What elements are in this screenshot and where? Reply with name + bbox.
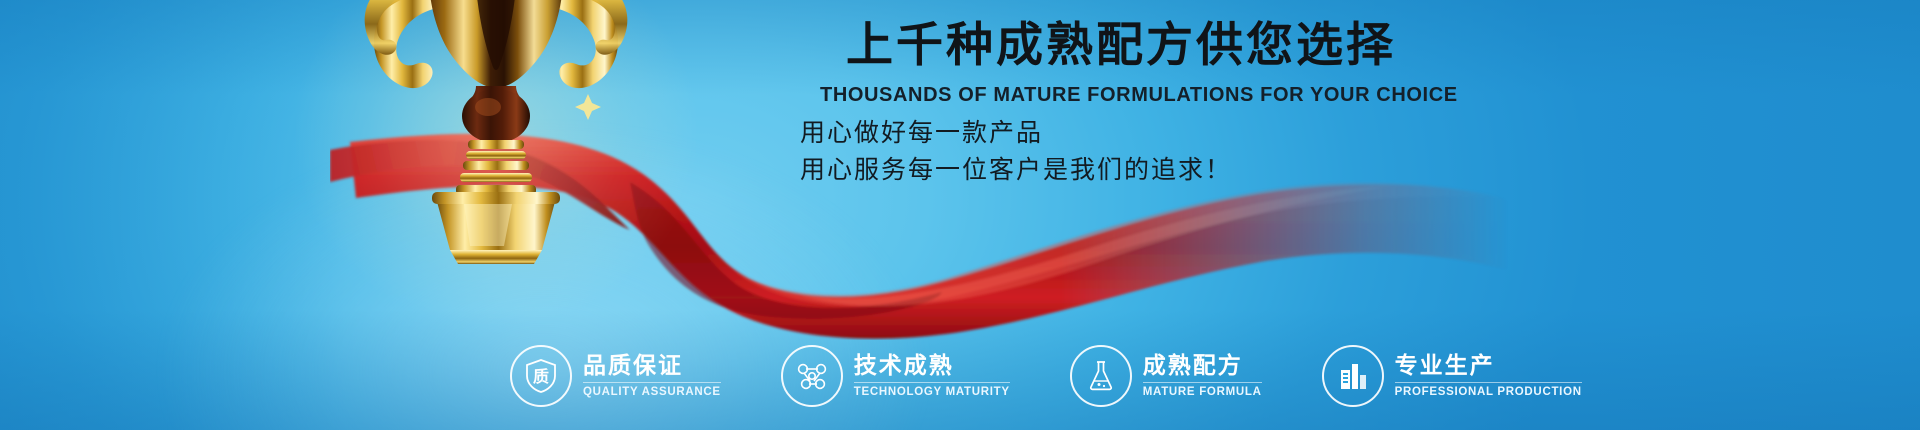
promo-banner: 上千种成熟配方供您选择 THOUSANDS OF MATURE FORMULAT… [0, 0, 1920, 430]
body-line-1: 用心做好每一款产品 [800, 113, 1043, 149]
feature-title: 成熟配方 [1143, 354, 1262, 378]
feature-subtitle: TECHNOLOGY MATURITY [854, 382, 1010, 398]
body-line-2: 用心服务每一位客户是我们的追求！ [800, 150, 1232, 186]
feature-item-mature-formula[interactable]: 成熟配方 MATURE FORMULA [1070, 345, 1262, 407]
feature-title: 专业生产 [1395, 354, 1582, 378]
feature-item-quality-assurance[interactable]: 质 品质保证 QUALITY ASSURANCE [510, 345, 721, 407]
molecule-icon [781, 345, 843, 407]
feature-item-professional-production[interactable]: 专业生产 PROFESSIONAL PRODUCTION [1322, 345, 1582, 407]
svg-text:质: 质 [533, 367, 549, 386]
feature-title: 品质保证 [583, 354, 721, 378]
feature-subtitle: MATURE FORMULA [1143, 382, 1262, 398]
feature-item-technology-maturity[interactable]: 技术成熟 TECHNOLOGY MATURITY [781, 345, 1010, 407]
feature-subtitle: QUALITY ASSURANCE [583, 382, 721, 398]
page-title: 上千种成熟配方供您选择 [846, 6, 1396, 75]
feature-text: 品质保证 QUALITY ASSURANCE [583, 354, 721, 397]
factory-icon [1322, 345, 1384, 407]
feature-subtitle: PROFESSIONAL PRODUCTION [1395, 382, 1582, 398]
feature-list: 质 品质保证 QUALITY ASSURANCE [510, 345, 1582, 407]
quality-shield-icon: 质 [510, 345, 572, 407]
trophy-icon [336, 0, 656, 284]
feature-text: 专业生产 PROFESSIONAL PRODUCTION [1395, 354, 1582, 397]
flask-icon [1070, 345, 1132, 407]
feature-text: 技术成熟 TECHNOLOGY MATURITY [854, 354, 1010, 397]
feature-title: 技术成熟 [854, 354, 1010, 378]
feature-text: 成熟配方 MATURE FORMULA [1143, 354, 1262, 397]
page-subtitle: THOUSANDS OF MATURE FORMULATIONS FOR YOU… [820, 84, 1458, 107]
